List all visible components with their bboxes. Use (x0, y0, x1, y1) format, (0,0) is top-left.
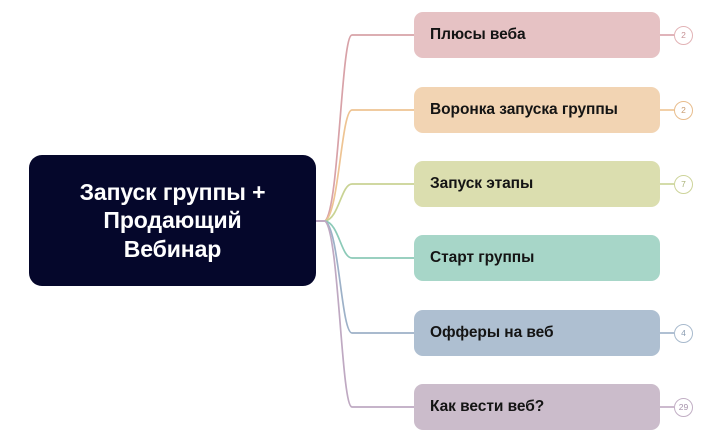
child-count-badge-text: 7 (681, 180, 686, 189)
child-count-badge[interactable]: 2 (674, 101, 693, 120)
branch-node-label: Старт группы (430, 249, 534, 266)
branch-node-label: Офферы на веб (430, 324, 554, 341)
branch-node-label: Плюсы веба (430, 26, 526, 43)
child-count-badge-text: 2 (681, 31, 686, 40)
branch-node-label: Запуск этапы (430, 175, 533, 192)
branch-node-start-gruppy[interactable]: Старт группы (414, 235, 660, 281)
central-topic-label: Запуск группы + Продающий Вебинар (80, 178, 266, 262)
branch-node-label: Воронка запуска группы (430, 101, 618, 118)
branch-node-label: Как вести веб? (430, 398, 544, 415)
branch-node-voronka-zapuska-gruppy[interactable]: Воронка запуска группы (414, 87, 660, 133)
connector-offery-na-veb (325, 221, 414, 333)
child-count-badge-text: 2 (681, 106, 686, 115)
child-count-badge[interactable]: 2 (674, 26, 693, 45)
connector-kak-vesti-veb (325, 221, 414, 407)
connector-start-gruppy (325, 221, 414, 258)
branch-node-offery-na-veb[interactable]: Офферы на веб (414, 310, 660, 356)
central-topic-node[interactable]: Запуск группы + Продающий Вебинар (29, 155, 316, 286)
connector-zapusk-etapy (325, 184, 414, 221)
branch-node-zapusk-etapy[interactable]: Запуск этапы (414, 161, 660, 207)
child-count-badge-text: 4 (681, 329, 686, 338)
mindmap-canvas: Запуск группы + Продающий Вебинар Плюсы … (0, 0, 709, 439)
branch-node-plusy-veba[interactable]: Плюсы веба (414, 12, 660, 58)
child-count-badge-text: 29 (679, 403, 688, 412)
branch-node-kak-vesti-veb[interactable]: Как вести веб? (414, 384, 660, 430)
child-count-badge[interactable]: 29 (674, 398, 693, 417)
child-count-badge[interactable]: 7 (674, 175, 693, 194)
connector-voronka-zapuska-gruppy (325, 110, 414, 221)
connector-plusy-veba (325, 35, 414, 221)
child-count-badge[interactable]: 4 (674, 324, 693, 343)
